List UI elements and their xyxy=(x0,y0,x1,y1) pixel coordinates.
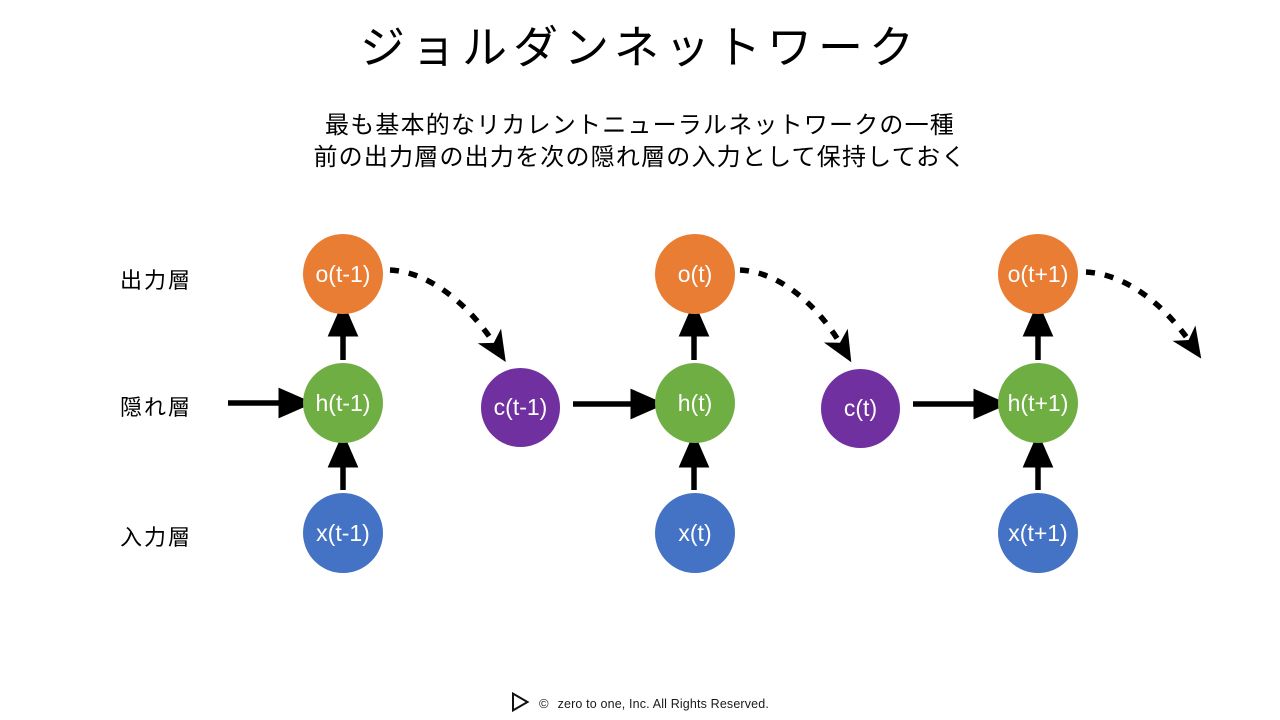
node-o-t-1[interactable]: o(t-1) xyxy=(303,234,383,314)
node-o-t[interactable]: o(t) xyxy=(655,234,735,314)
node-x-t[interactable]: x(t) xyxy=(655,493,735,573)
edge-o-t+1-to-next-dashed xyxy=(1086,272,1192,345)
diagram-arrows xyxy=(0,0,1280,720)
node-x-t-1[interactable]: x(t-1) xyxy=(303,493,383,573)
footer: © zero to one, Inc. All Rights Reserved. xyxy=(0,692,1280,715)
node-c-t[interactable]: c(t) xyxy=(821,369,900,448)
edge-o-t-1-to-c-t-1-dashed xyxy=(390,270,497,348)
slide-canvas: ジョルダンネットワーク 最も基本的なリカレントニューラルネットワークの一種 前の… xyxy=(0,0,1280,720)
node-h-t-1[interactable]: h(t-1) xyxy=(303,363,383,443)
node-h-t[interactable]: h(t) xyxy=(655,363,735,443)
subtitle-line-1: 最も基本的なリカレントニューラルネットワークの一種 xyxy=(0,110,1280,142)
node-x-t+1[interactable]: x(t+1) xyxy=(998,493,1078,573)
copyright-icon: © xyxy=(539,697,549,710)
row-label-input-layer: 入力層 xyxy=(120,520,192,552)
row-label-hidden-layer: 隠れ層 xyxy=(120,390,192,422)
node-o-t+1[interactable]: o(t+1) xyxy=(998,234,1078,314)
subtitle-line-2: 前の出力層の出力を次の隠れ層の入力として保持しておく xyxy=(0,142,1280,174)
play-triangle-icon xyxy=(511,692,530,715)
page-title: ジョルダンネットワーク xyxy=(0,22,1280,74)
page-subtitle: 最も基本的なリカレントニューラルネットワークの一種 前の出力層の出力を次の隠れ層… xyxy=(0,110,1280,175)
node-c-t-1[interactable]: c(t-1) xyxy=(481,368,560,447)
row-label-output-layer: 出力層 xyxy=(120,263,192,295)
node-h-t+1[interactable]: h(t+1) xyxy=(998,363,1078,443)
footer-text: zero to one, Inc. All Rights Reserved. xyxy=(558,697,769,711)
edge-o-t-to-c-t-dashed xyxy=(740,270,843,348)
